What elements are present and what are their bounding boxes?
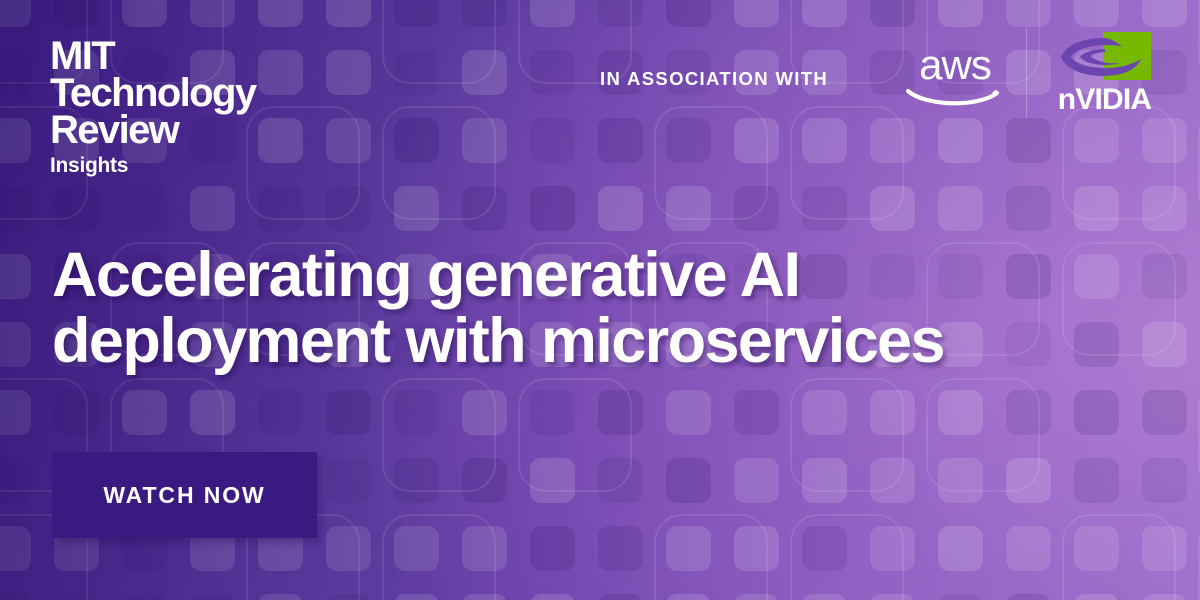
aws-wordmark: aws — [905, 44, 1005, 86]
page-title: Accelerating generative AI deployment wi… — [52, 242, 1132, 374]
nvidia-eye-icon — [1059, 32, 1151, 87]
headline-line-1: Accelerating generative AI — [52, 242, 1132, 308]
watch-now-button[interactable]: WATCH NOW — [52, 452, 317, 538]
aws-smile-icon — [905, 87, 1005, 112]
logo-sub-label-insights: Insights — [50, 153, 256, 179]
logo-line-technology: Technology — [50, 75, 256, 112]
logo-line-review: Review — [50, 112, 256, 149]
logo-divider — [1026, 28, 1027, 118]
aws-logo[interactable]: aws — [905, 44, 1005, 106]
headline-line-2: deployment with microservices — [52, 308, 1132, 374]
nvidia-logo[interactable]: nVIDIA — [1047, 32, 1162, 120]
mit-technology-review-logo[interactable]: MIT Technology Review Insights — [50, 38, 256, 179]
promo-banner: MIT Technology Review Insights IN ASSOCI… — [0, 0, 1200, 600]
association-row: IN ASSOCIATION WITH — [600, 36, 828, 122]
nvidia-wordmark: nVIDIA — [1047, 84, 1162, 116]
watch-now-label: WATCH NOW — [103, 482, 265, 509]
association-label: IN ASSOCIATION WITH — [600, 68, 828, 90]
logo-line-mit: MIT — [50, 38, 256, 75]
